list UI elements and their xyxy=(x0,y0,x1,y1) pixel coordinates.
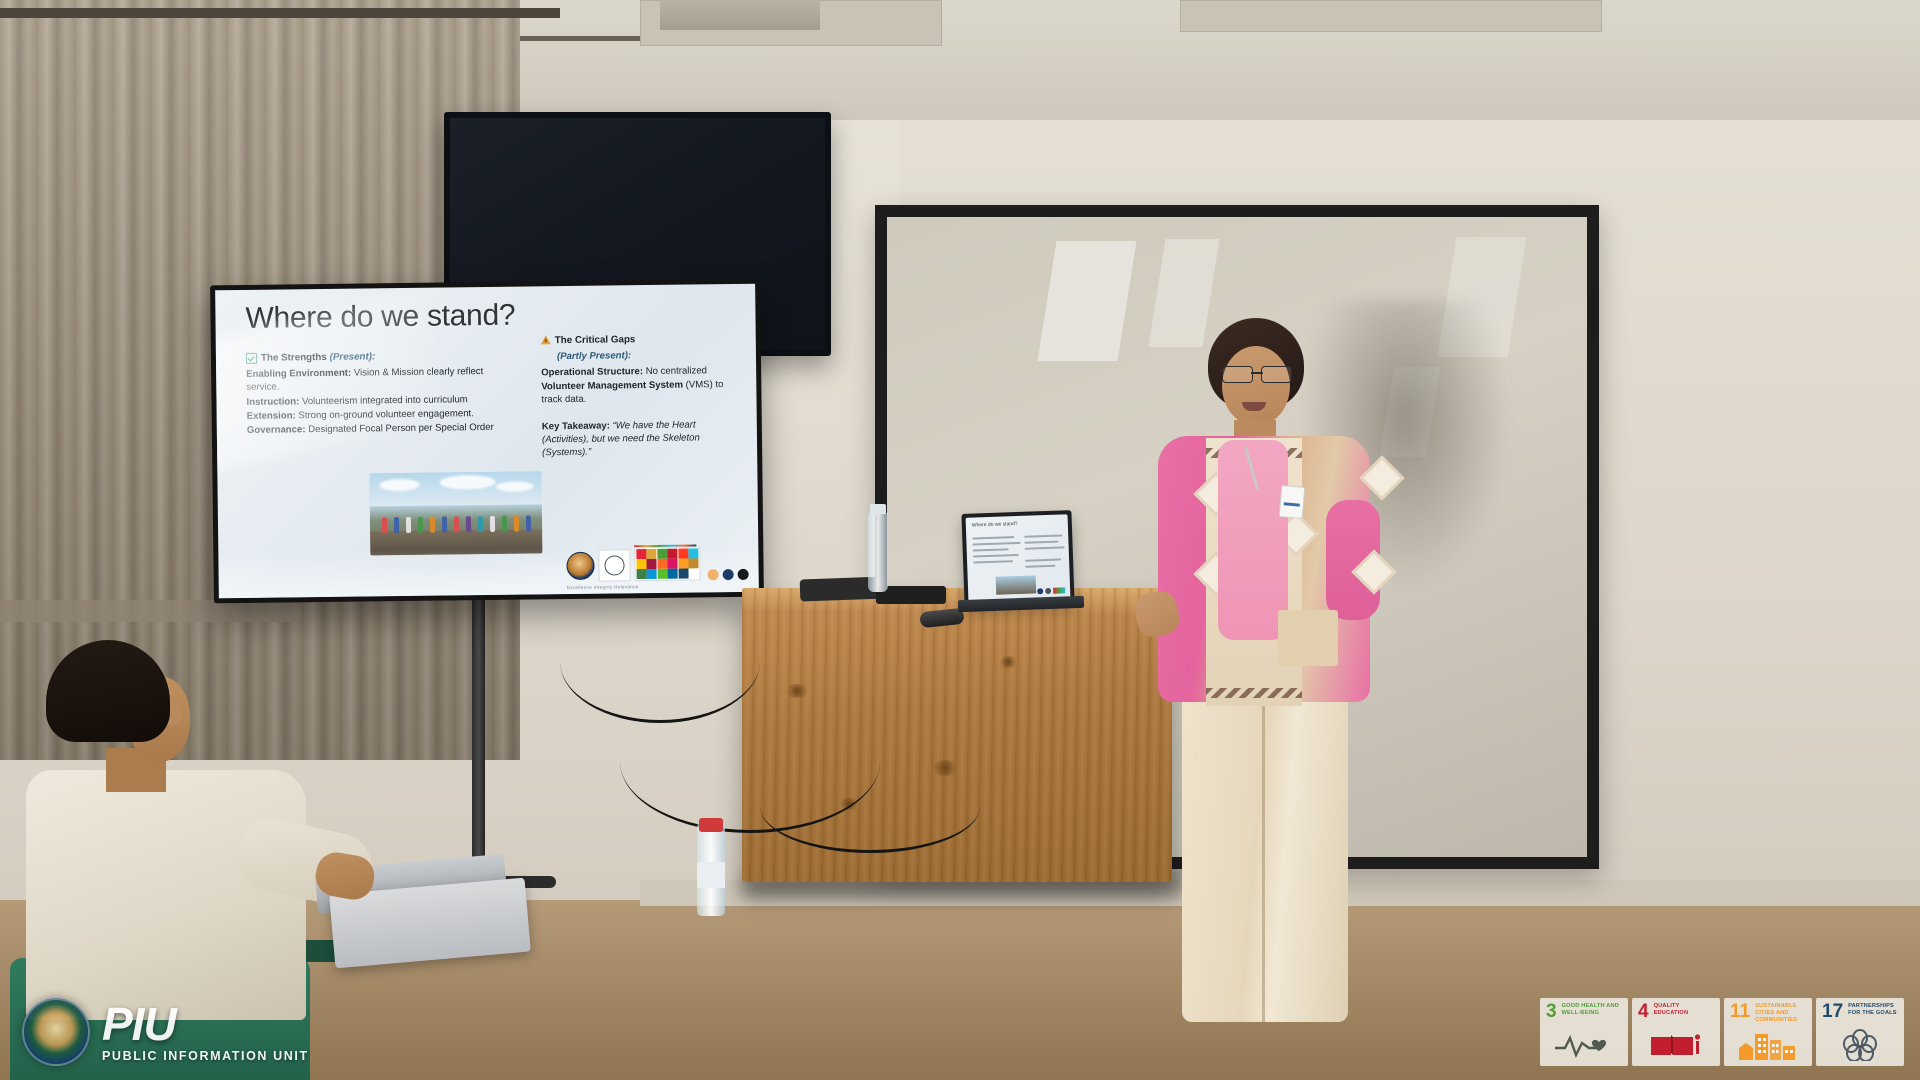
wall-trim xyxy=(0,600,300,622)
strength-item: Enabling Environment: Vision & Mission c… xyxy=(246,365,504,395)
sdg-number: 4 xyxy=(1638,1003,1649,1020)
cable xyxy=(760,760,980,853)
attendee-shirt xyxy=(26,770,306,1020)
laptop-slide-logos xyxy=(1037,587,1065,594)
slide-surface: Where do we stand? The Strengths (Presen… xyxy=(215,284,759,599)
laptop-slide-photo xyxy=(996,575,1037,594)
trouser-seam xyxy=(1262,692,1265,1022)
slide-right-column: The Critical Gaps (Partly Present): Oper… xyxy=(541,332,738,461)
jacket-pocket xyxy=(1278,610,1338,666)
id-badge xyxy=(1279,485,1306,519)
heartbeat-icon xyxy=(1540,1029,1628,1061)
sdg-badge-3: 3 GOOD HEALTH AND WELL-BEING xyxy=(1540,998,1628,1066)
screenshot-root: Where do we stand? The Strengths (Presen… xyxy=(0,0,1920,1080)
check-box-icon xyxy=(246,353,257,364)
strengths-heading: The Strengths (Present): xyxy=(246,349,504,365)
gap-label: Operational Structure: xyxy=(541,366,643,378)
laptop-slide-title: Where do we stand? xyxy=(972,521,1018,529)
presenter-laptop: Where do we stand? xyxy=(961,510,1074,606)
slide-title: Where do we stand? xyxy=(245,299,515,336)
slide-footer-dots xyxy=(708,569,749,581)
sdg-name: PARTNERSHIPS FOR THE GOALS xyxy=(1848,1003,1898,1017)
presenter-face xyxy=(1222,346,1290,426)
city-buildings-icon xyxy=(1724,1029,1812,1061)
sdg-badge-strip: 3 GOOD HEALTH AND WELL-BEING 4 QUALITY E… xyxy=(1540,998,1904,1066)
warning-triangle-icon xyxy=(541,335,551,344)
piu-expansion: PUBLIC INFORMATION UNIT xyxy=(102,1050,309,1063)
gaps-heading-qualifier: (Partly Present): xyxy=(557,348,736,363)
gap-bold-1: Volunteer Management System xyxy=(541,379,683,392)
strength-label: Extension: xyxy=(247,410,296,422)
attendee-hair xyxy=(46,640,170,742)
strength-item: Governance: Designated Focal Person per … xyxy=(247,421,505,437)
slide-footer-caption: Excellence Integrity Relevance xyxy=(567,584,639,590)
bottle-label xyxy=(697,862,725,888)
piu-watermark-text: PIU PUBLIC INFORMATION UNIT xyxy=(102,1001,309,1063)
open-book-icon xyxy=(1632,1029,1720,1061)
gap-text-1: No centralized xyxy=(643,366,707,378)
volunteer-org-logo xyxy=(598,549,630,581)
sdg-name: QUALITY EDUCATION xyxy=(1654,1003,1714,1017)
sdg-badge-17: 17 PARTNERSHIPS FOR THE GOALS xyxy=(1816,998,1904,1066)
university-seal-logo xyxy=(566,552,594,580)
presenter-person xyxy=(1130,310,1410,1080)
strength-text: Strong on-ground volunteer engagement. xyxy=(296,408,474,421)
sdg-number: 17 xyxy=(1822,1003,1843,1020)
water-bottle xyxy=(868,512,888,592)
piu-watermark: PIU PUBLIC INFORMATION UNIT xyxy=(22,998,309,1066)
sdg-number: 3 xyxy=(1546,1003,1557,1020)
bottle-cap xyxy=(870,504,886,514)
laptop-screen: Where do we stand? xyxy=(966,514,1071,602)
interlocking-rings-icon xyxy=(1816,1029,1904,1061)
presentation-display: Where do we stand? The Strengths (Presen… xyxy=(210,279,764,604)
eyeglasses-icon xyxy=(1222,366,1292,381)
presenter-trousers xyxy=(1182,692,1348,1022)
key-takeaway: Key Takeaway: “We have the Heart (Activi… xyxy=(542,418,737,460)
sdg-number: 11 xyxy=(1730,1003,1750,1020)
sdg-name: SUSTAINABLE CITIES AND COMMUNITIES xyxy=(1755,1003,1806,1023)
strength-text: Volunteerism integrated into curriculum xyxy=(299,394,468,407)
gap-body: Operational Structure: No centralized Vo… xyxy=(541,364,736,406)
key-takeaway-label: Key Takeaway: xyxy=(542,421,610,433)
ceiling-vent xyxy=(660,0,820,30)
display-stand-pole xyxy=(472,588,485,888)
gaps-heading-label: The Critical Gaps xyxy=(555,333,636,347)
strength-label: Governance: xyxy=(247,424,306,436)
sdg-name: GOOD HEALTH AND WELL-BEING xyxy=(1562,1003,1622,1017)
strength-label: Instruction: xyxy=(246,396,299,408)
strengths-heading-qualifier: (Present): xyxy=(330,351,376,363)
university-seal-icon xyxy=(22,998,90,1066)
piu-acronym: PIU xyxy=(102,1001,309,1047)
sdg-goals-grid-logo xyxy=(634,546,700,581)
bottle-cap xyxy=(699,818,723,832)
strength-text: Designated Focal Person per Special Orde… xyxy=(305,422,493,435)
slide-photo xyxy=(369,471,542,555)
strength-label: Enabling Environment: xyxy=(246,368,351,380)
strengths-heading-label: The Strengths xyxy=(261,352,327,364)
sdg-badge-11: 11 SUSTAINABLE CITIES AND COMMUNITIES xyxy=(1724,998,1812,1066)
slide-left-column: The Strengths (Present): Enabling Enviro… xyxy=(246,349,505,438)
ceiling-panel xyxy=(1180,0,1602,32)
sdg-badge-4: 4 QUALITY EDUCATION xyxy=(1632,998,1720,1066)
gaps-heading: The Critical Gaps xyxy=(541,332,736,348)
curtain-rod xyxy=(0,8,560,18)
